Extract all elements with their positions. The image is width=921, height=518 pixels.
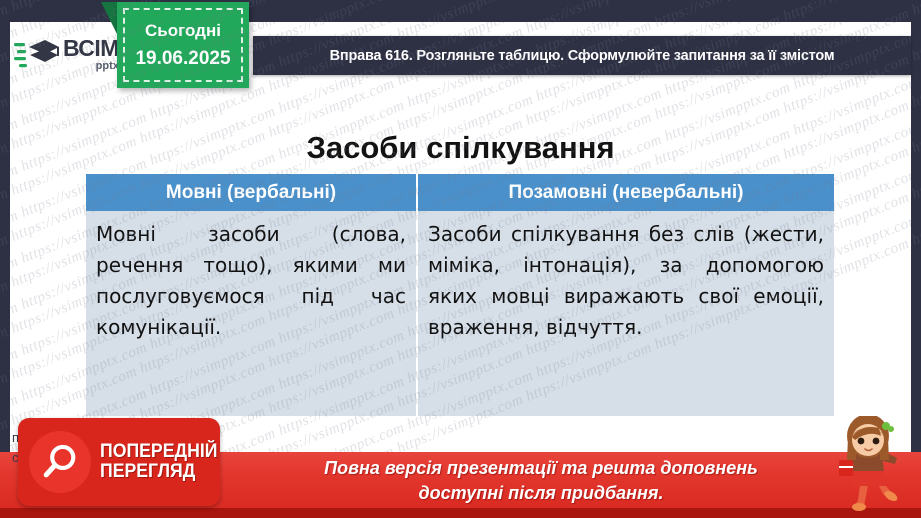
page-title: Засоби спілкування (10, 130, 911, 166)
exercise-header-text: Вправа 616. Розгляньте таблицю. Сформулю… (330, 48, 835, 64)
table-body-row: Мовні засоби (слова, речення тощо), яким… (86, 211, 834, 416)
banner-line-2: доступні після придбання. (246, 481, 836, 506)
logo-suffix: pptx (63, 61, 119, 72)
table-header-verbal: Мовні (вербальні) (86, 174, 418, 211)
preview-badge[interactable]: ПОПЕРЕДНІЙ ПЕРЕГЛЯД (18, 418, 220, 506)
logo-name: ВСІМ (63, 37, 119, 60)
exercise-header-bar: Вправа 616. Розгляньте таблицю. Сформулю… (253, 36, 911, 75)
preview-badge-text: ПОПЕРЕДНІЙ ПЕРЕГЛЯД (100, 442, 217, 483)
banner-line-1: Повна версія презентації та решта доповн… (246, 456, 836, 481)
presentation-slide: Засоби спілкування Мовні (вербальні) Поз… (0, 0, 921, 518)
preview-line-1: ПОПЕРЕДНІЙ (100, 442, 217, 462)
brand-logo: ВСІМ pptx (14, 30, 134, 78)
table-header-nonverbal: Позамовні (невербальні) (418, 174, 834, 211)
preview-line-2: ПЕРЕГЛЯД (100, 462, 217, 482)
banner-text: Повна версія презентації та решта доповн… (246, 456, 836, 506)
graduation-cap-icon (14, 34, 60, 74)
banner-band-dark (0, 508, 921, 518)
comparison-table: Мовні (вербальні) Позамовні (невербальні… (86, 174, 834, 416)
table-cell-verbal: Мовні засоби (слова, речення тощо), яким… (86, 211, 418, 416)
table-cell-nonverbal: Засоби спілкування без слів (жести, мімі… (418, 211, 834, 416)
today-date-badge: Сьогодні 19.06.2025 (117, 2, 249, 88)
logo-wordmark: ВСІМ pptx (63, 37, 119, 72)
today-label: Сьогодні (145, 21, 221, 41)
today-date: 19.06.2025 (135, 48, 230, 70)
table-header-row: Мовні (вербальні) Позамовні (невербальні… (86, 174, 834, 211)
girl-with-book-illustration (831, 416, 907, 512)
magnifying-glass-icon (29, 431, 91, 493)
